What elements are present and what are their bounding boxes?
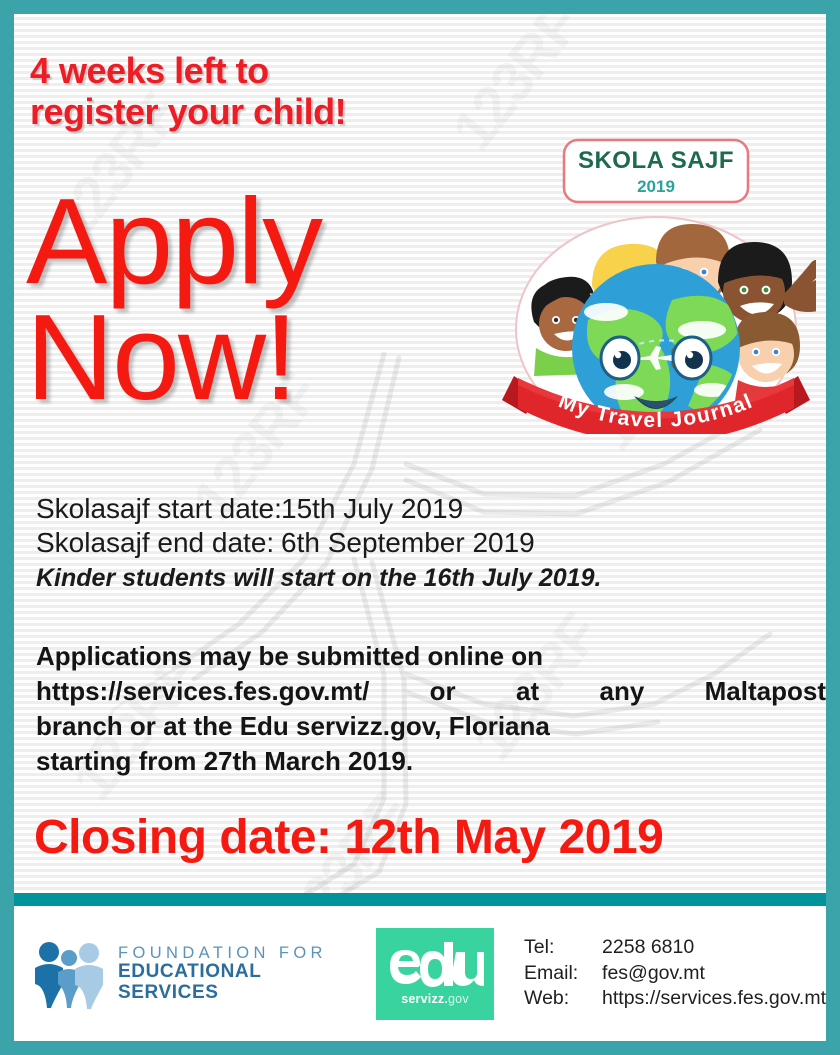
edu-servizz-gov-text: servizz.gov: [376, 992, 494, 1006]
fes-logo: FOUNDATION FOR EDUCATIONAL SERVICES: [32, 938, 344, 1010]
badge-title-text: SKOLA SAJF: [578, 147, 734, 174]
edu-wordmark-icon: [386, 940, 484, 988]
date-row-start: Skolasajf start date: 15th July 2019: [36, 492, 736, 526]
fes-line-2: EDUCATIONAL SERVICES: [118, 962, 344, 1004]
contact-details: Tel: 2258 6810 Email: fes@gov.mt Web: ht…: [524, 935, 826, 1013]
kicker-heading: 4 weeks left to register your child!: [30, 50, 346, 133]
contact-row-web: Web: https://services.fes.gov.mt: [524, 986, 826, 1012]
tel-value[interactable]: 2258 6810: [602, 935, 694, 961]
applications-line-2: https://services.fes.gov.mt/ or at any M…: [36, 674, 826, 709]
edu-gov-word: gov: [448, 992, 469, 1006]
skola-sajf-badge: SKOLA SAJF 2019: [496, 134, 816, 434]
edu-servizz-word: servizz: [401, 992, 444, 1006]
badge-year-text: 2019: [637, 177, 675, 196]
dates-block: Skolasajf start date: 15th July 2019 Sko…: [36, 492, 736, 594]
kicker-line-1: 4 weeks left to: [30, 50, 269, 91]
contact-row-email: Email: fes@gov.mt: [524, 961, 826, 987]
fes-wordmark: FOUNDATION FOR EDUCATIONAL SERVICES: [118, 944, 344, 1004]
applications-line-4: starting from 27th March 2019.: [36, 746, 413, 776]
closing-date: Closing date: 12th May 2019: [34, 810, 663, 865]
date-row-end: Skolasajf end date: 6th September 2019: [36, 526, 736, 560]
fes-line-1: FOUNDATION FOR: [118, 944, 344, 962]
email-value[interactable]: fes@gov.mt: [602, 961, 705, 987]
poster-footer: FOUNDATION FOR EDUCATIONAL SERVICES serv…: [14, 906, 826, 1041]
contact-row-tel: Tel: 2258 6810: [524, 935, 826, 961]
web-value[interactable]: https://services.fes.gov.mt: [602, 986, 826, 1012]
main-headline: Apply Now!: [26, 184, 321, 416]
email-label: Email:: [524, 961, 602, 987]
poster-root: 123RF 123RF 123RF 123RF 123RF 123RF 123R…: [0, 0, 840, 1055]
poster-content: 4 weeks left to register your child! App…: [14, 14, 826, 893]
end-date-label: Skolasajf end date:: [36, 526, 281, 560]
start-date-label: Skolasajf start date:: [36, 492, 281, 526]
applications-paragraph: Applications may be submitted online on …: [36, 639, 826, 779]
end-date-value: 6th September 2019: [281, 526, 535, 560]
kinder-note: Kinder students will start on the 16th J…: [36, 563, 736, 594]
headline-line-2: Now!: [26, 300, 321, 416]
applications-line-3: branch or at the Edu servizz.gov, Floria…: [36, 711, 550, 741]
web-label: Web:: [524, 986, 602, 1012]
teal-divider-band: [14, 893, 826, 906]
tel-label: Tel:: [524, 935, 602, 961]
fes-people-icon: [32, 938, 106, 1010]
poster-canvas: 123RF 123RF 123RF 123RF 123RF 123RF 123R…: [14, 14, 826, 1041]
kicker-line-2: register your child!: [30, 91, 346, 132]
edu-servizz-gov-logo: servizz.gov: [376, 928, 494, 1020]
start-date-value: 15th July 2019: [281, 492, 463, 526]
applications-line-1: Applications may be submitted online on: [36, 641, 543, 671]
